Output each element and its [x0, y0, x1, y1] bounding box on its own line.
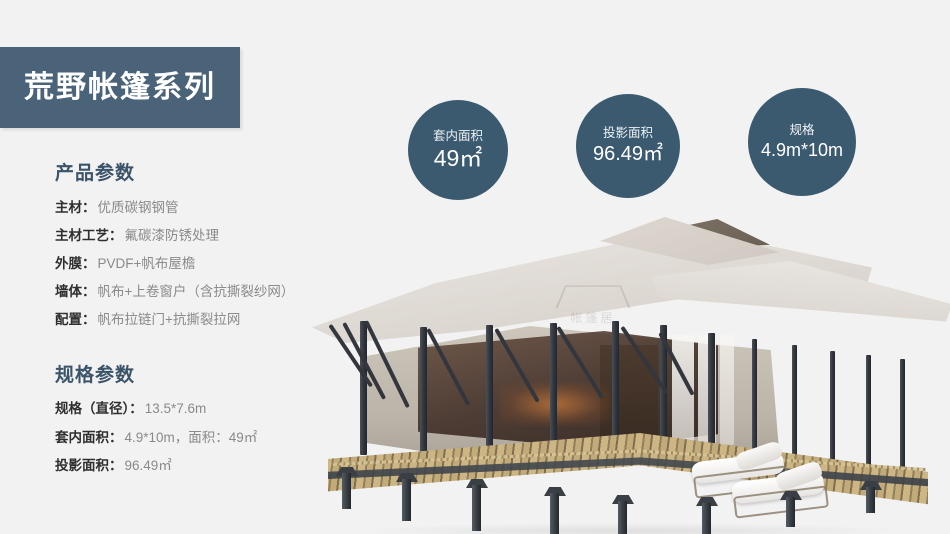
stat-label: 规格 [789, 124, 814, 138]
ground-shadow [360, 523, 900, 534]
stat-value: 49㎡ [434, 146, 483, 170]
stilt-column [472, 485, 481, 531]
title-banner: 荒野帐篷系列 [0, 47, 240, 128]
stat-label: 套内面积 [433, 130, 483, 144]
spec-label: 配置： [55, 312, 96, 327]
tent-curtain [720, 335, 734, 445]
steel-post [550, 323, 557, 459]
stilt-column [786, 497, 795, 527]
spec-label: 主材工艺： [55, 228, 123, 243]
render-stage: 帐篷居 [300, 205, 950, 534]
spec-label: 套内面积： [55, 430, 123, 445]
stilt-column [342, 473, 351, 509]
stat-circle-interior-area: 套内面积 49㎡ [408, 100, 508, 200]
steel-post [900, 359, 905, 483]
product-section-heading: 产品参数 [55, 163, 355, 186]
spec-value: 氟碳漆防锈处理 [125, 228, 220, 243]
spec-value: 帆布拉链门+抗撕裂拉网 [98, 312, 241, 327]
spec-value: 优质碳钢钢管 [98, 200, 179, 215]
tent-render-image: 荒野帐篷三维效果图：白色帐篷屋顶、钢结构支架、木质架空平台与躺椅 帐篷居 [300, 205, 950, 534]
slide-page: 荒野帐篷系列 产品参数 主材：优质碳钢钢管 主材工艺：氟碳漆防锈处理 外膜：PV… [0, 0, 950, 534]
spec-label: 墙体： [55, 284, 96, 299]
stat-label: 投影面积 [603, 127, 653, 141]
spec-value: PVDF+帆布屋檐 [98, 256, 196, 271]
stilt-column [866, 487, 875, 513]
stilt-column [618, 501, 627, 534]
lounge-chair [732, 471, 828, 511]
stat-circle-dimensions: 规格 4.9m*10m [748, 88, 856, 196]
spec-value: 96.49㎡ [125, 458, 172, 473]
stilt-column [550, 493, 559, 534]
stilt-column [702, 503, 711, 534]
stat-value: 96.49㎡ [593, 144, 663, 165]
spec-value: 4.9*10m，面积：49㎡ [125, 430, 258, 445]
stat-circle-projected-area: 投影面积 96.49㎡ [576, 94, 680, 198]
page-title: 荒野帐篷系列 [24, 73, 216, 103]
stilt-column [402, 479, 411, 521]
steel-post [420, 327, 427, 459]
spec-value: 帆布+上卷窗户（含抗撕裂纱网） [98, 284, 295, 299]
stat-value: 4.9m*10m [761, 141, 843, 160]
spec-label: 规格（直径）： [55, 401, 143, 416]
spec-value: 13.5*7.6m [145, 401, 207, 416]
spec-label: 主材： [55, 200, 96, 215]
stat-circles-row: 套内面积 49㎡ 投影面积 96.49㎡ 规格 4.9m*10m [408, 88, 908, 198]
spec-label: 投影面积： [55, 458, 123, 473]
steel-post [360, 321, 367, 455]
steel-post [486, 325, 493, 459]
spec-label: 外膜： [55, 256, 96, 271]
